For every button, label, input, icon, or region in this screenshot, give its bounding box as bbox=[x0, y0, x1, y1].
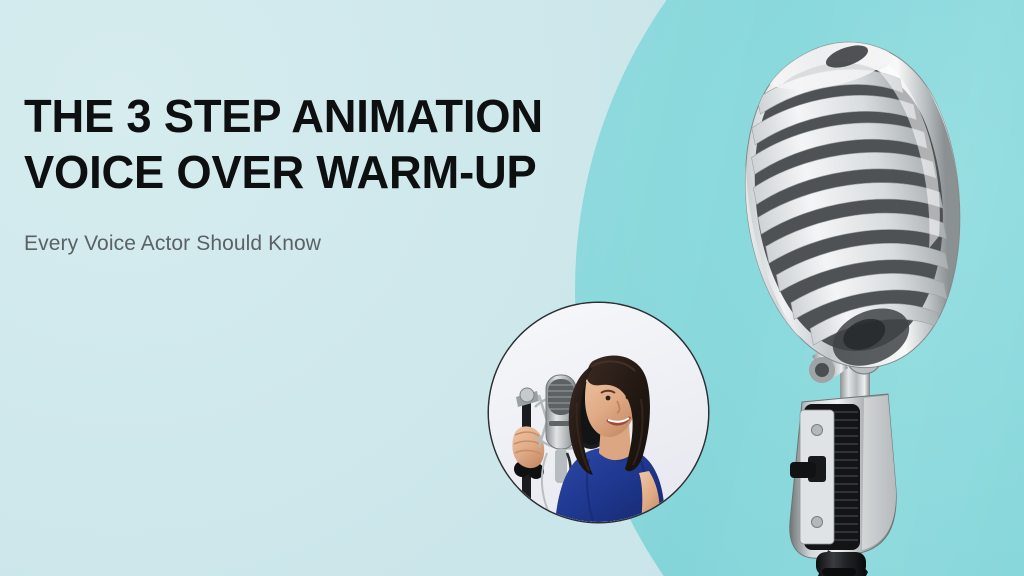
headline-line-2: VOICE OVER WARM-UP bbox=[24, 144, 615, 200]
subtitle-text: Every Voice Actor Should Know bbox=[24, 230, 624, 258]
portrait-illustration bbox=[489, 303, 708, 522]
microphone-base bbox=[790, 394, 896, 558]
retro-microphone-image bbox=[736, 38, 976, 576]
microphone-cable bbox=[816, 550, 868, 576]
headline-line-1: THE 3 STEP ANIMATION bbox=[24, 88, 615, 144]
headline-block: THE 3 STEP ANIMATION VOICE OVER WARM-UP … bbox=[24, 88, 624, 258]
microphone-icon bbox=[736, 38, 976, 576]
banner-canvas: THE 3 STEP ANIMATION VOICE OVER WARM-UP … bbox=[0, 0, 1024, 576]
voice-actor-portrait-photo bbox=[489, 303, 708, 522]
